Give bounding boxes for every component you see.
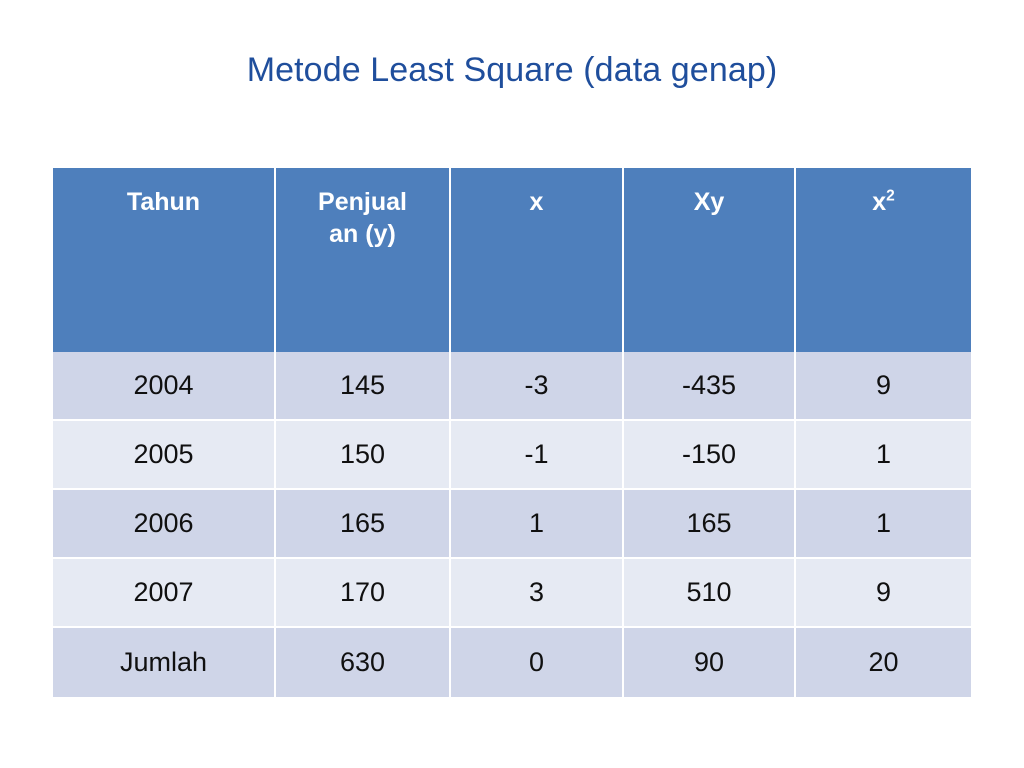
cell-penjualan: 150 <box>276 421 451 490</box>
cell-tahun: Jumlah <box>53 628 276 697</box>
table-row: 2005 150 -1 -150 1 <box>53 421 971 490</box>
table-row-total: Jumlah 630 0 90 20 <box>53 628 971 697</box>
column-header-x-squared-exponent: 2 <box>886 188 895 205</box>
least-square-table-container: Tahun Penjual an (y) x Xy x2 <box>53 168 971 696</box>
cell-x-squared: 9 <box>796 559 971 628</box>
column-header-x-squared-wrap: x2 <box>802 186 965 218</box>
column-header-tahun-line1: Tahun <box>59 186 268 218</box>
table-row: 2007 170 3 510 9 <box>53 559 971 628</box>
column-header-x-line1: x <box>457 186 616 218</box>
column-header-x-squared-base: x <box>872 188 886 216</box>
table-header-row: Tahun Penjual an (y) x Xy x2 <box>53 168 971 352</box>
cell-tahun: 2005 <box>53 421 276 490</box>
table-row: 2006 165 1 165 1 <box>53 490 971 559</box>
table-header: Tahun Penjual an (y) x Xy x2 <box>53 168 971 352</box>
cell-x: 1 <box>451 490 624 559</box>
least-square-table: Tahun Penjual an (y) x Xy x2 <box>53 168 971 697</box>
cell-penjualan: 630 <box>276 628 451 697</box>
cell-x: -1 <box>451 421 624 490</box>
cell-x-squared: 9 <box>796 352 971 421</box>
cell-xy: -435 <box>624 352 796 421</box>
cell-x-squared: 1 <box>796 490 971 559</box>
column-header-tahun: Tahun <box>53 168 276 352</box>
cell-tahun: 2006 <box>53 490 276 559</box>
table-body: 2004 145 -3 -435 9 2005 150 -1 -150 1 20… <box>53 352 971 697</box>
cell-x-squared: 1 <box>796 421 971 490</box>
cell-penjualan: 170 <box>276 559 451 628</box>
cell-x: 3 <box>451 559 624 628</box>
page-title: Metode Least Square (data genap) <box>0 50 1024 91</box>
cell-xy: 165 <box>624 490 796 559</box>
table-row: 2004 145 -3 -435 9 <box>53 352 971 421</box>
cell-penjualan: 165 <box>276 490 451 559</box>
cell-x: -3 <box>451 352 624 421</box>
column-header-penjualan: Penjual an (y) <box>276 168 451 352</box>
cell-x-squared: 20 <box>796 628 971 697</box>
column-header-penjualan-line2: an (y) <box>282 218 443 250</box>
cell-x: 0 <box>451 628 624 697</box>
column-header-x-squared: x2 <box>796 168 971 352</box>
cell-penjualan: 145 <box>276 352 451 421</box>
column-header-penjualan-line1: Penjual <box>282 186 443 218</box>
cell-tahun: 2004 <box>53 352 276 421</box>
slide-canvas: Metode Least Square (data genap) Tahun P… <box>0 0 1024 768</box>
cell-xy: -150 <box>624 421 796 490</box>
cell-tahun: 2007 <box>53 559 276 628</box>
cell-xy: 510 <box>624 559 796 628</box>
column-header-xy: Xy <box>624 168 796 352</box>
cell-xy: 90 <box>624 628 796 697</box>
column-header-xy-line1: Xy <box>630 186 788 218</box>
column-header-x: x <box>451 168 624 352</box>
